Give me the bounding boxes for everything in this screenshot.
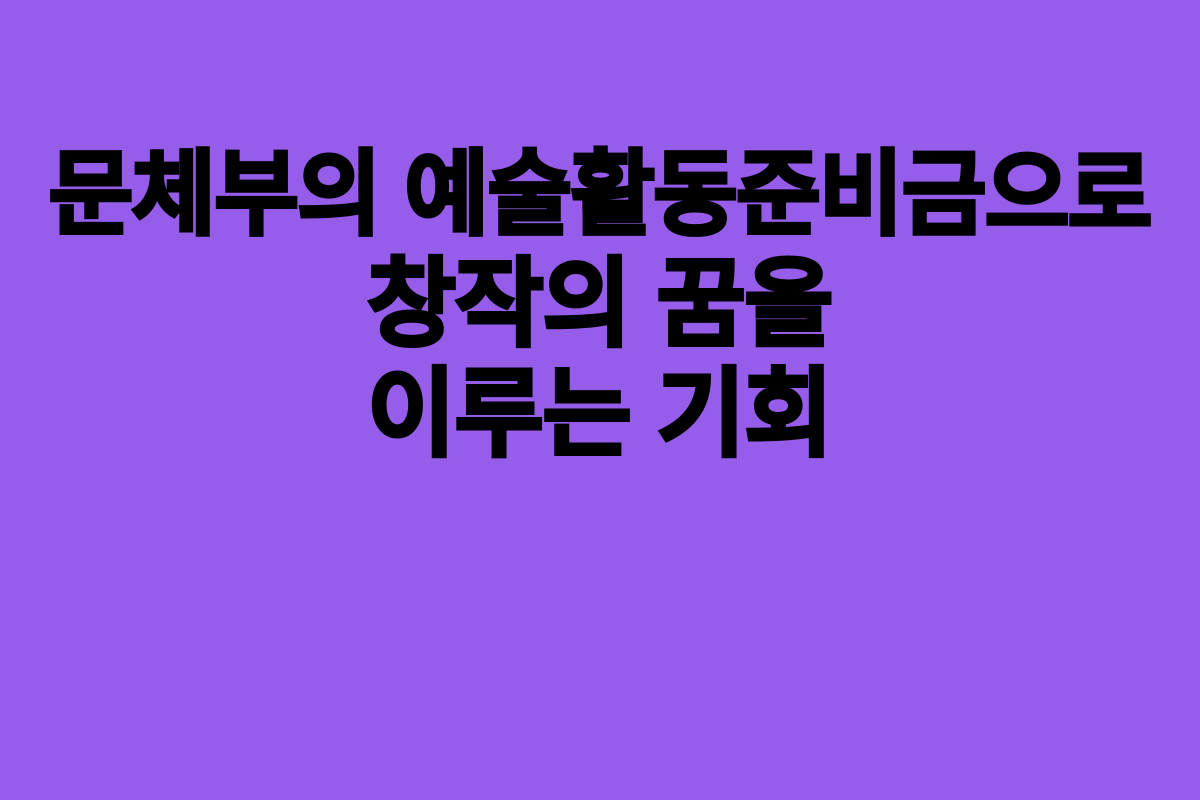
headline-line-1: 문체부의 예술활동준비금으로 bbox=[5, 140, 1194, 250]
headline-line-2: 창작의 꿈을 bbox=[0, 250, 1200, 360]
headline-card: 문체부의 예술활동준비금으로 창작의 꿈을 이루는 기회 bbox=[0, 0, 1200, 800]
headline-line-3: 이루는 기회 bbox=[0, 360, 1200, 470]
headline-text-block: 문체부의 예술활동준비금으로 창작의 꿈을 이루는 기회 bbox=[0, 140, 1200, 470]
